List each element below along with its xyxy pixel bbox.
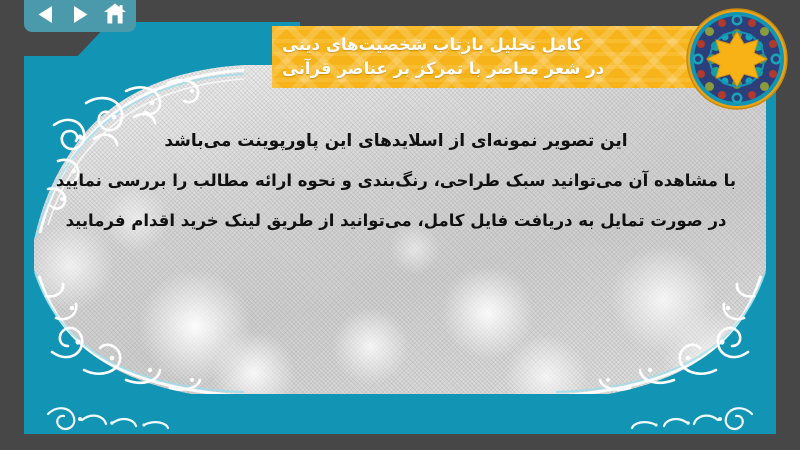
islamic-medallion-ornament [684, 6, 790, 112]
home-button[interactable] [102, 2, 128, 26]
title-line-2: در شعر معاصر با تمرکز بر عناصر قرآنی [282, 57, 604, 81]
title-line-1: کامل تحلیل بازتاب شخصیت‌های دینی [282, 33, 582, 57]
slide-frame: این تصویر نمونه‌ای از اسلایدهای این پاور… [24, 56, 776, 434]
triangle-right-icon [72, 5, 89, 24]
triangle-left-icon [37, 5, 54, 24]
slide-text-line-1: این تصویر نمونه‌ای از اسلایدهای این پاور… [54, 133, 738, 150]
previous-slide-button[interactable] [32, 2, 58, 26]
slide-body-text: این تصویر نمونه‌ای از اسلایدهای این پاور… [54, 133, 738, 229]
navigation-bar [24, 0, 136, 32]
bottom-ornament-band [24, 394, 776, 434]
home-icon [103, 3, 127, 25]
presentation-title-band: کامل تحلیل بازتاب شخصیت‌های دینی در شعر … [272, 26, 742, 88]
next-slide-button[interactable] [67, 2, 93, 26]
slide-stage: کامل تحلیل بازتاب شخصیت‌های دینی در شعر … [0, 0, 800, 450]
slide-text-line-2: با مشاهده آن می‌توانید سبک طراحی، رنگ‌بن… [54, 173, 738, 190]
arabesque-corner-ornament-bottom-left [34, 270, 244, 400]
slide-text-line-3: در صورت تمایل به دریافت فایل کامل، می‌تو… [54, 213, 738, 230]
arabesque-corner-ornament-bottom-right [556, 270, 766, 400]
presentation-title: کامل تحلیل بازتاب شخصیت‌های دینی در شعر … [272, 26, 742, 88]
slide-content-area: این تصویر نمونه‌ای از اسلایدهای این پاور… [34, 65, 766, 400]
